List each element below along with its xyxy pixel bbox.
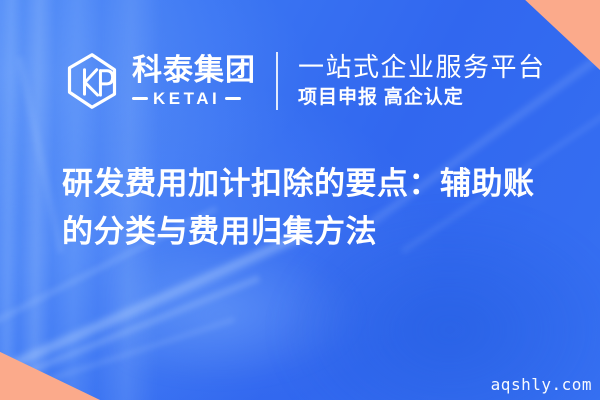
logo-dash-left-icon xyxy=(132,97,148,100)
tagline-block: 一站式企业服务平台 项目申报 高企认定 xyxy=(298,53,546,110)
logo-company-name-en-row: KETAI xyxy=(132,90,256,107)
page-title: 研发费用加计扣除的要点：辅助账的分类与费用归集方法 xyxy=(62,160,562,256)
tagline-secondary: 项目申报 高企认定 xyxy=(298,87,546,110)
logo-company-name-cn: 科泰集团 xyxy=(132,55,256,87)
logo-company-name-en: KETAI xyxy=(153,90,220,107)
ketai-monogram-icon xyxy=(62,51,122,111)
brand-header: 科泰集团 KETAI 一站式企业服务平台 项目申报 高企认定 xyxy=(62,44,546,118)
banner-canvas: 科泰集团 KETAI 一站式企业服务平台 项目申报 高企认定 研发费用加计扣除的… xyxy=(0,0,600,400)
logo-wordmark: 科泰集团 KETAI xyxy=(132,55,256,107)
watermark-text: aqshly.com xyxy=(491,375,592,394)
tagline-primary: 一站式企业服务平台 xyxy=(298,53,546,83)
logo-dash-right-icon xyxy=(225,97,241,100)
header-divider xyxy=(276,52,278,110)
